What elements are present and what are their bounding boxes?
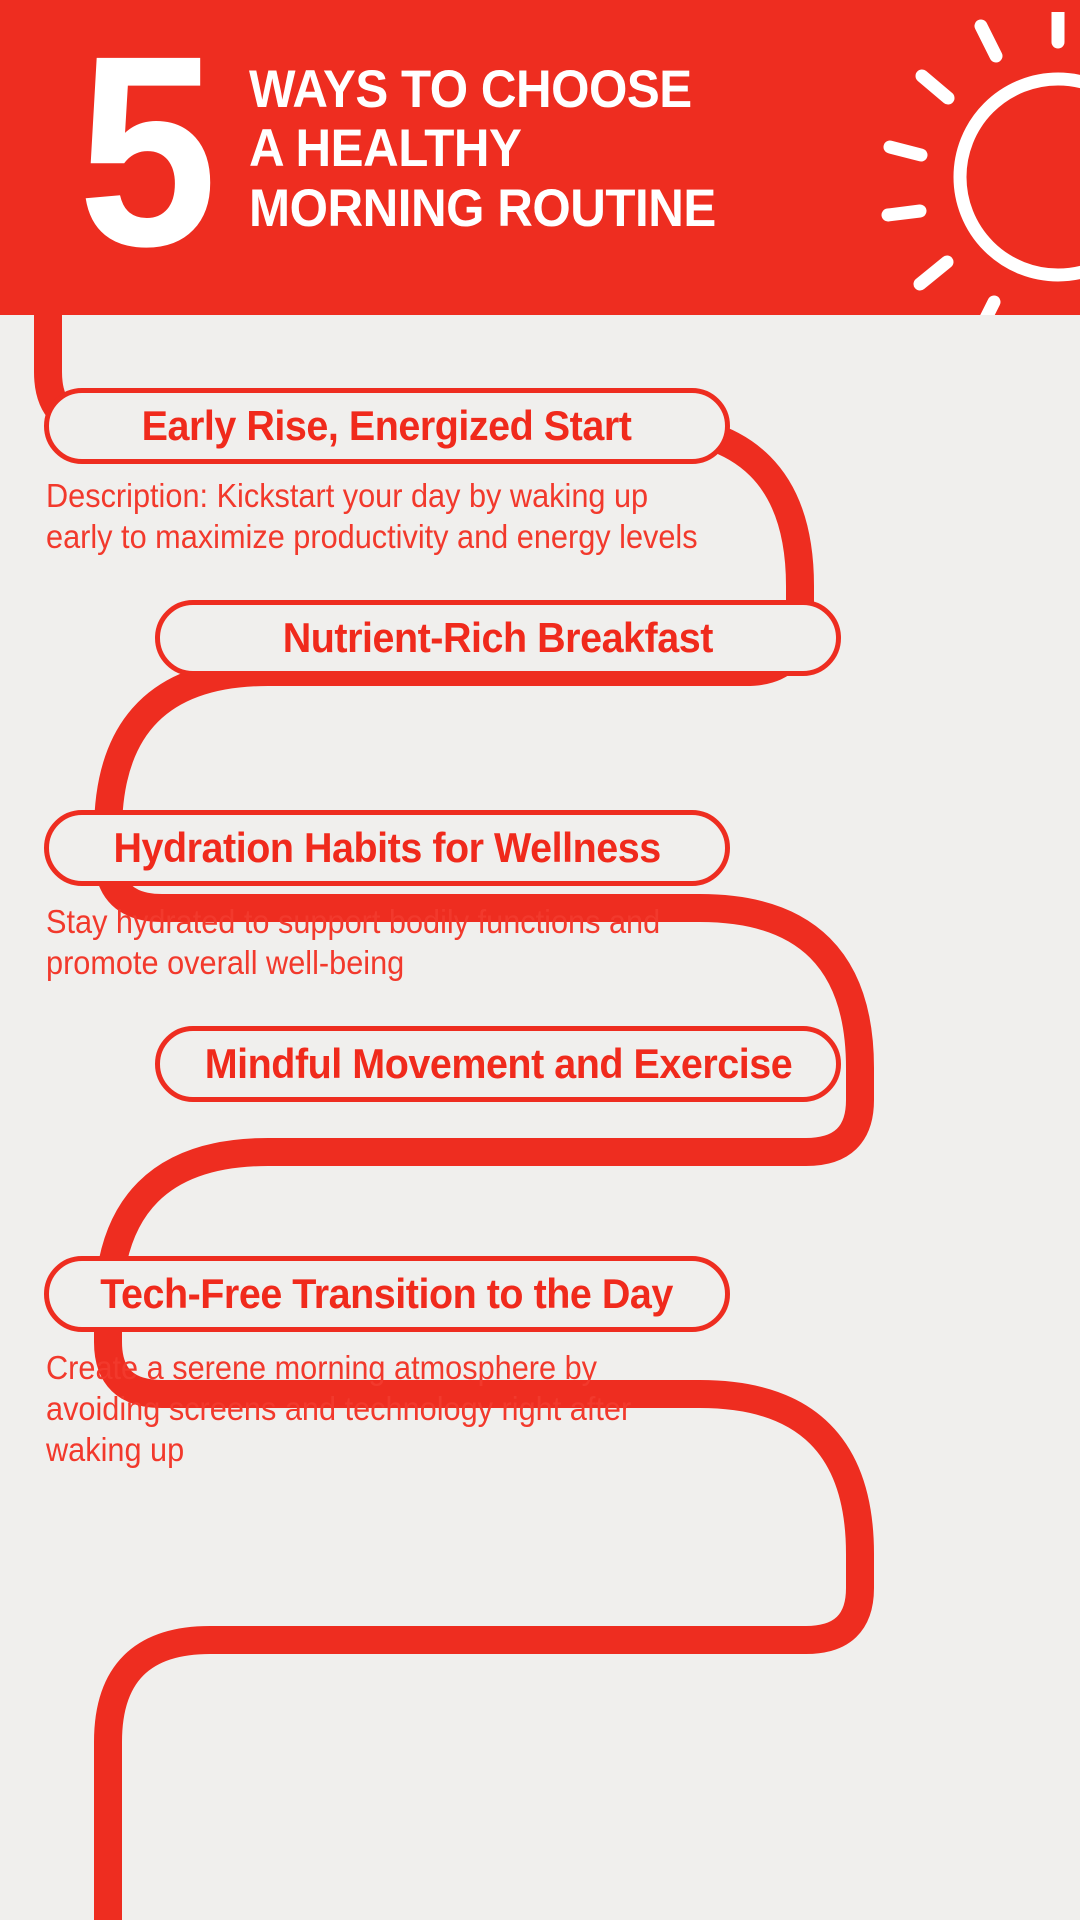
headline-title-line-1: WAYS TO CHOOSE: [249, 60, 716, 119]
header-banner: 5 WAYS TO CHOOSE A HEALTHY MORNING ROUTI…: [0, 0, 1080, 315]
step-title-5: Tech-Free Transition to the Day: [101, 1270, 674, 1318]
step-pill-4[interactable]: Mindful Movement and Exercise: [155, 1026, 841, 1102]
step-title-4: Mindful Movement and Exercise: [204, 1040, 791, 1088]
step-pill-2[interactable]: Nutrient-Rich Breakfast: [155, 600, 841, 676]
headline-title-line-3: MORNING ROUTINE: [249, 179, 716, 238]
step-description-5: Create a serene morning atmosphere by av…: [46, 1348, 706, 1471]
step-title-3: Hydration Habits for Wellness: [113, 824, 660, 872]
step-description-1: Description: Kickstart your day by wakin…: [46, 476, 706, 558]
step-title-1: Early Rise, Energized Start: [142, 402, 632, 450]
headline-title: WAYS TO CHOOSE A HEALTHY MORNING ROUTINE: [249, 60, 751, 238]
headline-title-line-2: A HEALTHY: [249, 119, 716, 178]
sun-icon: [868, 12, 1080, 315]
headline-number: 5: [78, 40, 208, 263]
header-content: 5 WAYS TO CHOOSE A HEALTHY MORNING ROUTI…: [78, 46, 751, 263]
step-pill-3[interactable]: Hydration Habits for Wellness: [44, 810, 730, 886]
step-description-3: Stay hydrated to support bodily function…: [46, 902, 706, 984]
step-pill-1[interactable]: Early Rise, Energized Start: [44, 388, 730, 464]
step-title-2: Nutrient-Rich Breakfast: [283, 614, 713, 662]
step-pill-5[interactable]: Tech-Free Transition to the Day: [44, 1256, 730, 1332]
